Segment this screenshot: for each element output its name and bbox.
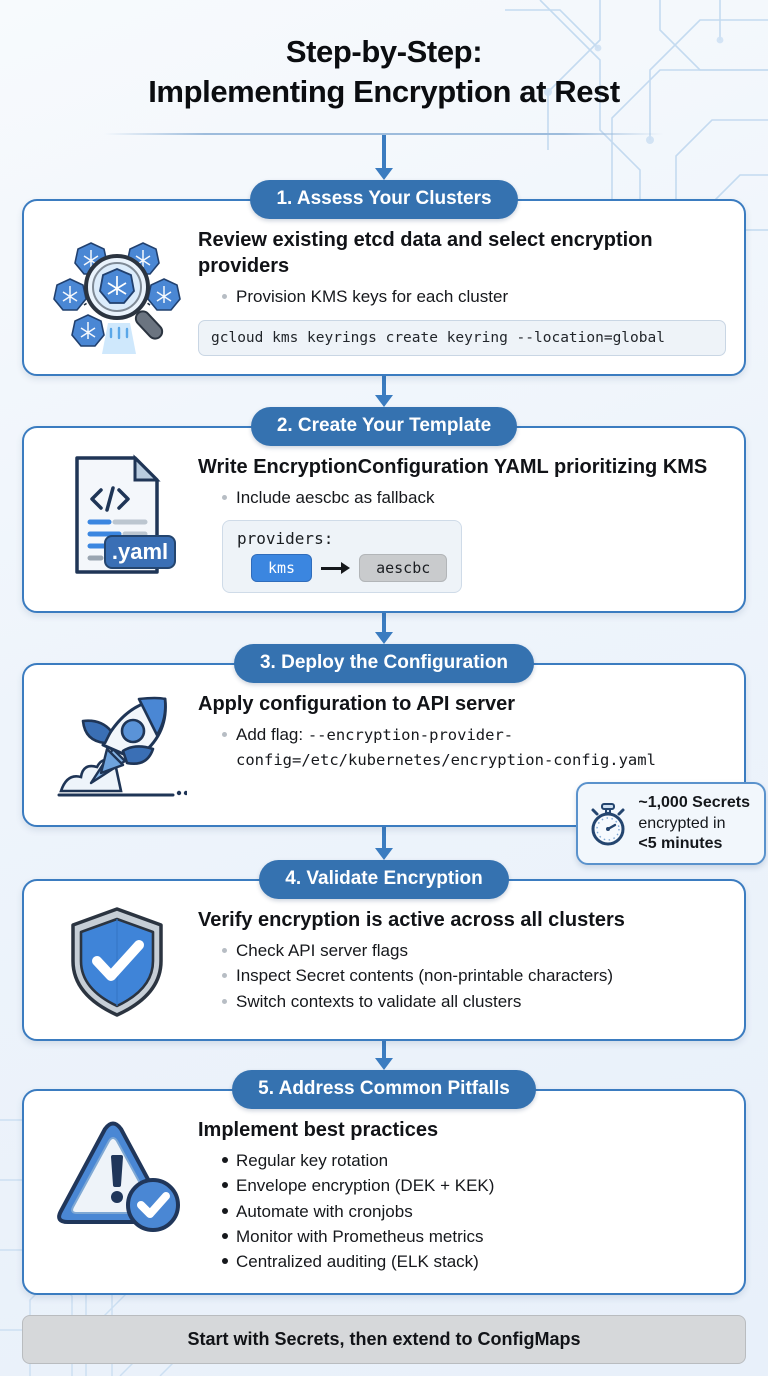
connector-arrow xyxy=(22,135,746,180)
step-card-1: 1. Assess Your Clusters xyxy=(22,180,746,376)
connector-arrow xyxy=(22,613,746,644)
step-4-headline: Verify encryption is active across all c… xyxy=(198,907,726,933)
list-item: Automate with cronjobs xyxy=(222,1200,726,1224)
yaml-providers-diagram: providers: kms aescbc xyxy=(222,520,462,593)
list-item: Switch contexts to validate all clusters xyxy=(222,990,726,1014)
badge-line-1: ~1,000 Secrets xyxy=(638,793,750,813)
arrow-right-icon xyxy=(321,562,350,574)
step-2-pill[interactable]: 2. Create Your Template xyxy=(251,407,517,446)
connector-arrow xyxy=(22,376,746,407)
yaml-file-icon: .yaml xyxy=(42,450,192,582)
step-card-5: 5. Address Common Pitfalls Implement bes… xyxy=(22,1070,746,1295)
shield-check-icon xyxy=(42,903,192,1021)
step-3-bullets: Add flag: --encryption-provider-config=/… xyxy=(198,723,726,771)
list-item: Provision KMS keys for each cluster xyxy=(222,285,726,309)
step-3-headline: Apply configuration to API server xyxy=(198,691,726,717)
list-item: Monitor with Prometheus metrics xyxy=(222,1225,726,1249)
step-5-pill[interactable]: 5. Address Common Pitfalls xyxy=(232,1070,536,1109)
status-badge: ~1,000 Secrets encrypted in <5 minutes xyxy=(576,782,766,865)
step-5-headline: Implement best practices xyxy=(198,1117,726,1143)
stopwatch-icon xyxy=(588,802,628,846)
step-1-headline: Review existing etcd data and select enc… xyxy=(198,227,726,279)
list-item: Inspect Secret contents (non-printable c… xyxy=(222,964,726,988)
flag-label: Add flag: xyxy=(236,725,308,744)
step-1-bullets: Provision KMS keys for each cluster xyxy=(198,285,726,309)
kubernetes-magnifier-icon xyxy=(42,223,192,355)
list-item: Include aescbc as fallback xyxy=(222,486,726,510)
rocket-icon xyxy=(42,687,192,807)
badge-line-3: <5 minutes xyxy=(638,834,750,854)
step-card-2: 2. Create Your Template .ya xyxy=(22,407,746,613)
warning-check-icon xyxy=(42,1113,192,1243)
step-1-code-block: gcloud kms keyrings create keyring --loc… xyxy=(198,320,726,356)
list-item: Centralized auditing (ELK stack) xyxy=(222,1250,726,1274)
list-item: Regular key rotation xyxy=(222,1149,726,1173)
title-line-1: Step-by-Step: xyxy=(286,34,482,69)
step-3-pill[interactable]: 3. Deploy the Configuration xyxy=(234,644,534,683)
badge-line-2: encrypted in xyxy=(638,814,750,834)
connector-arrow xyxy=(22,1041,746,1070)
title-line-2: Implementing Encryption at Rest xyxy=(22,72,746,112)
list-item: Check API server flags xyxy=(222,939,726,963)
step-5-bullets: Regular key rotation Envelope encryption… xyxy=(198,1149,726,1274)
step-4-pill[interactable]: 4. Validate Encryption xyxy=(259,860,508,899)
yaml-key: providers: xyxy=(237,529,447,548)
list-item: Envelope encryption (DEK + KEK) xyxy=(222,1174,726,1198)
step-2-headline: Write EncryptionConfiguration YAML prior… xyxy=(198,454,726,480)
step-card-4: 4. Validate Encryption Verify encryption… xyxy=(22,860,746,1041)
footer-callout: Start with Secrets, then extend to Confi… xyxy=(22,1315,746,1364)
step-1-pill[interactable]: 1. Assess Your Clusters xyxy=(250,180,517,219)
page-title: Step-by-Step: Implementing Encryption at… xyxy=(22,0,746,111)
provider-chip-fallback: aescbc xyxy=(359,554,447,582)
step-card-3: 3. Deploy the Configuration xyxy=(22,644,746,827)
list-item: Add flag: --encryption-provider-config=/… xyxy=(222,723,726,771)
step-2-bullets: Include aescbc as fallback xyxy=(198,486,726,510)
provider-chip-primary: kms xyxy=(251,554,312,582)
svg-text:.yaml: .yaml xyxy=(112,539,168,564)
step-4-bullets: Check API server flags Inspect Secret co… xyxy=(198,939,726,1013)
